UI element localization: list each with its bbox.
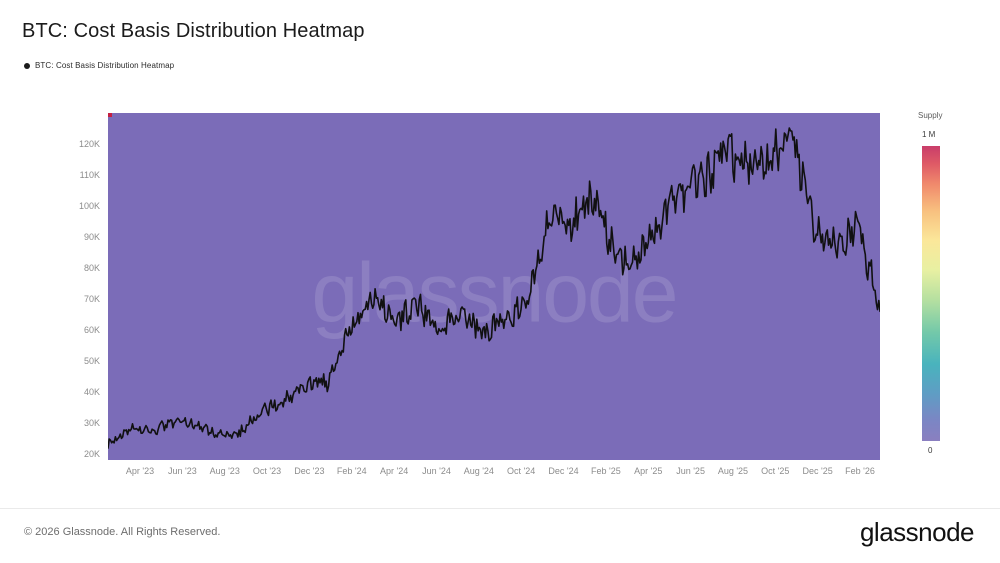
- x-axis-tick-label: Aug '24: [464, 466, 494, 476]
- x-axis-tick-label: Dec '24: [548, 466, 578, 476]
- y-axis-tick-label: 60K: [84, 325, 100, 335]
- x-axis: Apr '23Jun '23Aug '23Oct '23Dec '23Feb '…: [108, 466, 880, 482]
- price-line-overlay: [108, 113, 880, 460]
- x-axis-tick-label: Jun '23: [168, 466, 197, 476]
- colorbar-min-label: 0: [928, 446, 932, 455]
- x-axis-tick-label: Dec '25: [803, 466, 833, 476]
- x-axis-tick-label: Apr '25: [634, 466, 662, 476]
- colorbar-legend: Supply 1 M 0: [906, 113, 986, 465]
- heatmap-plot-area[interactable]: glassnode: [108, 113, 880, 460]
- colorbar-max-label: 1 M: [922, 130, 935, 139]
- chart-card: BTC: Cost Basis Distribution Heatmap BTC…: [0, 0, 1000, 563]
- x-axis-tick-label: Oct '25: [761, 466, 789, 476]
- page-title: BTC: Cost Basis Distribution Heatmap: [22, 20, 365, 43]
- x-axis-tick-label: Aug '23: [210, 466, 240, 476]
- y-axis-tick-label: 50K: [84, 356, 100, 366]
- y-axis: 120K110K100K90K80K70K60K50K40K30K20K: [60, 113, 100, 460]
- y-axis-tick-label: 90K: [84, 232, 100, 242]
- x-axis-tick-label: Jun '25: [676, 466, 705, 476]
- y-axis-tick-label: 80K: [84, 263, 100, 273]
- x-axis-tick-label: Feb '26: [845, 466, 875, 476]
- colorbar-title: Supply: [918, 111, 942, 120]
- x-axis-tick-label: Dec '23: [294, 466, 324, 476]
- legend-dot-icon: [24, 63, 30, 69]
- x-axis-tick-label: Oct '23: [253, 466, 281, 476]
- x-axis-tick-label: Apr '23: [126, 466, 154, 476]
- x-axis-tick-label: Apr '24: [380, 466, 408, 476]
- x-axis-tick-label: Oct '24: [507, 466, 535, 476]
- glassnode-wordmark: glassnode: [860, 517, 974, 548]
- y-axis-tick-label: 110K: [80, 170, 100, 180]
- x-axis-tick-label: Aug '25: [718, 466, 748, 476]
- legend-item-label: BTC: Cost Basis Distribution Heatmap: [35, 61, 174, 70]
- plot-wrapper: glassnode: [108, 113, 880, 460]
- y-axis-tick-label: 100K: [79, 201, 100, 211]
- colorbar-gradient: [922, 146, 940, 441]
- y-axis-tick-label: 30K: [84, 418, 100, 428]
- chart-legend: BTC: Cost Basis Distribution Heatmap: [24, 61, 174, 70]
- copyright-text: © 2026 Glassnode. All Rights Reserved.: [24, 526, 220, 538]
- y-axis-tick-label: 70K: [84, 294, 100, 304]
- y-axis-tick-label: 20K: [84, 449, 100, 459]
- x-axis-tick-label: Jun '24: [422, 466, 451, 476]
- y-axis-tick-label: 40K: [84, 387, 100, 397]
- red-highlight-box: [108, 113, 112, 117]
- x-axis-tick-label: Feb '25: [591, 466, 621, 476]
- x-axis-tick-label: Feb '24: [337, 466, 367, 476]
- footer-divider: [0, 508, 1000, 509]
- y-axis-tick-label: 120K: [79, 139, 100, 149]
